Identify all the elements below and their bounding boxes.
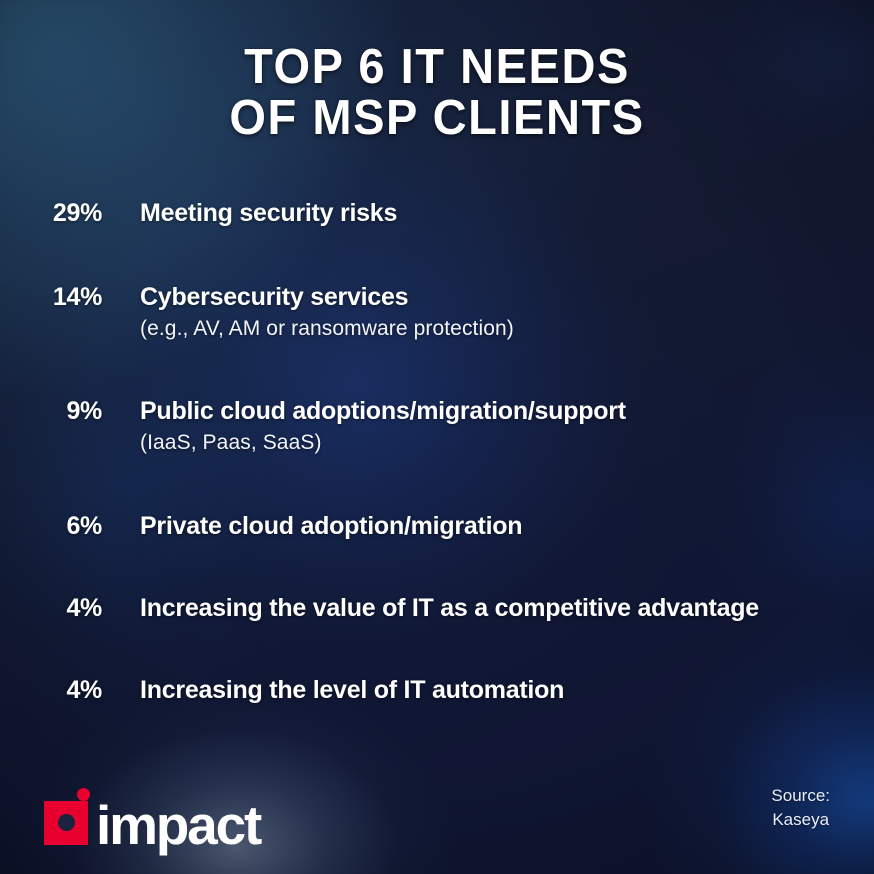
logo-circle-cutout (58, 814, 75, 831)
needs-list: 29% Meeting security risks 14% Cybersecu… (0, 196, 874, 707)
item-percentage: 4% (32, 673, 102, 707)
source-value: Kaseya (771, 808, 830, 832)
logo-i-dot (77, 788, 90, 801)
list-item: 29% Meeting security risks (0, 196, 874, 230)
title-line-1: TOP 6 IT NEEDS (17, 42, 856, 93)
list-item: 9% Public cloud adoptions/migration/supp… (0, 394, 874, 458)
item-percentage: 9% (32, 394, 102, 428)
infographic-canvas: TOP 6 IT NEEDS OF MSP CLIENTS 29% Meetin… (0, 0, 874, 874)
item-percentage: 4% (32, 591, 102, 625)
logo-wordmark: impact (96, 800, 260, 850)
source-attribution: Source: Kaseya (771, 784, 830, 832)
item-label: Cybersecurity services (140, 280, 514, 314)
item-percentage: 29% (32, 196, 102, 230)
content-layer: TOP 6 IT NEEDS OF MSP CLIENTS 29% Meetin… (0, 0, 874, 874)
item-label: Meeting security risks (140, 196, 397, 230)
page-title: TOP 6 IT NEEDS OF MSP CLIENTS (0, 42, 874, 144)
list-item: 14% Cybersecurity services (e.g., AV, AM… (0, 280, 874, 344)
list-item: 6% Private cloud adoption/migration (0, 509, 874, 543)
item-text-group: Meeting security risks (140, 196, 397, 230)
item-text-group: Cybersecurity services (e.g., AV, AM or … (140, 280, 514, 344)
item-sublabel: (e.g., AV, AM or ransomware protection) (140, 314, 514, 344)
item-text-group: Increasing the level of IT automation (140, 673, 564, 707)
item-sublabel: (IaaS, Paas, SaaS) (140, 428, 626, 458)
item-label: Private cloud adoption/migration (140, 509, 522, 543)
item-label: Increasing the value of IT as a competit… (140, 591, 759, 625)
impact-logo: impact (44, 784, 260, 846)
source-label: Source: (771, 784, 830, 808)
item-percentage: 6% (32, 509, 102, 543)
item-text-group: Private cloud adoption/migration (140, 509, 522, 543)
title-line-2: OF MSP CLIENTS (17, 93, 856, 144)
list-item: 4% Increasing the value of IT as a compe… (0, 591, 874, 625)
item-text-group: Public cloud adoptions/migration/support… (140, 394, 626, 458)
item-label: Public cloud adoptions/migration/support (140, 394, 626, 428)
item-text-group: Increasing the value of IT as a competit… (140, 591, 759, 625)
item-label: Increasing the level of IT automation (140, 673, 564, 707)
item-percentage: 14% (32, 280, 102, 314)
impact-logo-mark-icon (44, 788, 102, 846)
list-item: 4% Increasing the level of IT automation (0, 673, 874, 707)
